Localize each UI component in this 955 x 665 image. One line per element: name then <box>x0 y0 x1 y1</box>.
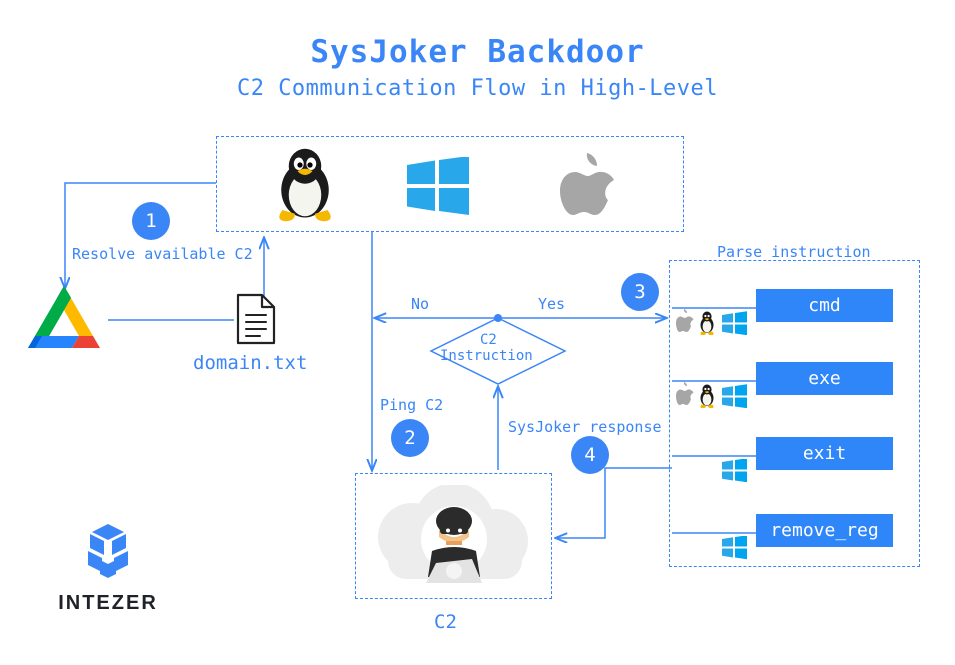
os-platforms-panel <box>216 136 684 232</box>
step-badge-4: 4 <box>571 436 609 474</box>
parse-panel-title: Parse instruction <box>717 243 871 261</box>
platform-icons-cmd <box>676 309 748 335</box>
intezer-cube-icon <box>58 522 158 584</box>
command-button-remove-reg[interactable]: remove_reg <box>756 514 893 547</box>
platform-icons-exe <box>676 382 748 408</box>
domain-file-label: domain.txt <box>193 352 307 374</box>
step-badge-3: 3 <box>621 273 659 311</box>
edge-label-no: No <box>411 295 429 313</box>
edge-exit-to-c2 <box>556 468 672 538</box>
edge-label-ping: Ping C2 <box>380 396 443 414</box>
edge-label-response: SysJoker response <box>508 418 662 436</box>
command-button-cmd[interactable]: cmd <box>756 289 893 322</box>
windows-icon <box>407 157 469 215</box>
c2-label: C2 <box>434 611 457 633</box>
edge-label-yes: Yes <box>538 295 565 313</box>
intezer-logo: INTEZER <box>58 522 158 615</box>
step-badge-2: 2 <box>391 419 429 457</box>
platform-icons-remove-reg <box>722 536 748 562</box>
intezer-wordmark: INTEZER <box>58 592 158 615</box>
branch-junction-dot <box>494 314 502 322</box>
apple-icon <box>557 153 619 219</box>
command-button-exe[interactable]: exe <box>756 362 893 395</box>
edge-label-resolve: Resolve available C2 <box>72 245 253 263</box>
cloud-hacker-icon <box>366 485 542 589</box>
document-icon <box>234 293 278 345</box>
decision-label-line1: C2 <box>480 332 497 348</box>
linux-tux-icon <box>265 145 345 225</box>
decision-label-line2: Instruction <box>440 348 533 364</box>
page-subtitle: C2 Communication Flow in High-Level <box>0 76 955 101</box>
step-badge-1: 1 <box>132 202 170 240</box>
page-title: SysJoker Backdoor <box>0 34 955 70</box>
command-button-exit[interactable]: exit <box>756 437 893 470</box>
c2-panel <box>355 473 552 599</box>
platform-icons-exit <box>722 459 748 485</box>
google-drive-icon <box>18 282 110 358</box>
